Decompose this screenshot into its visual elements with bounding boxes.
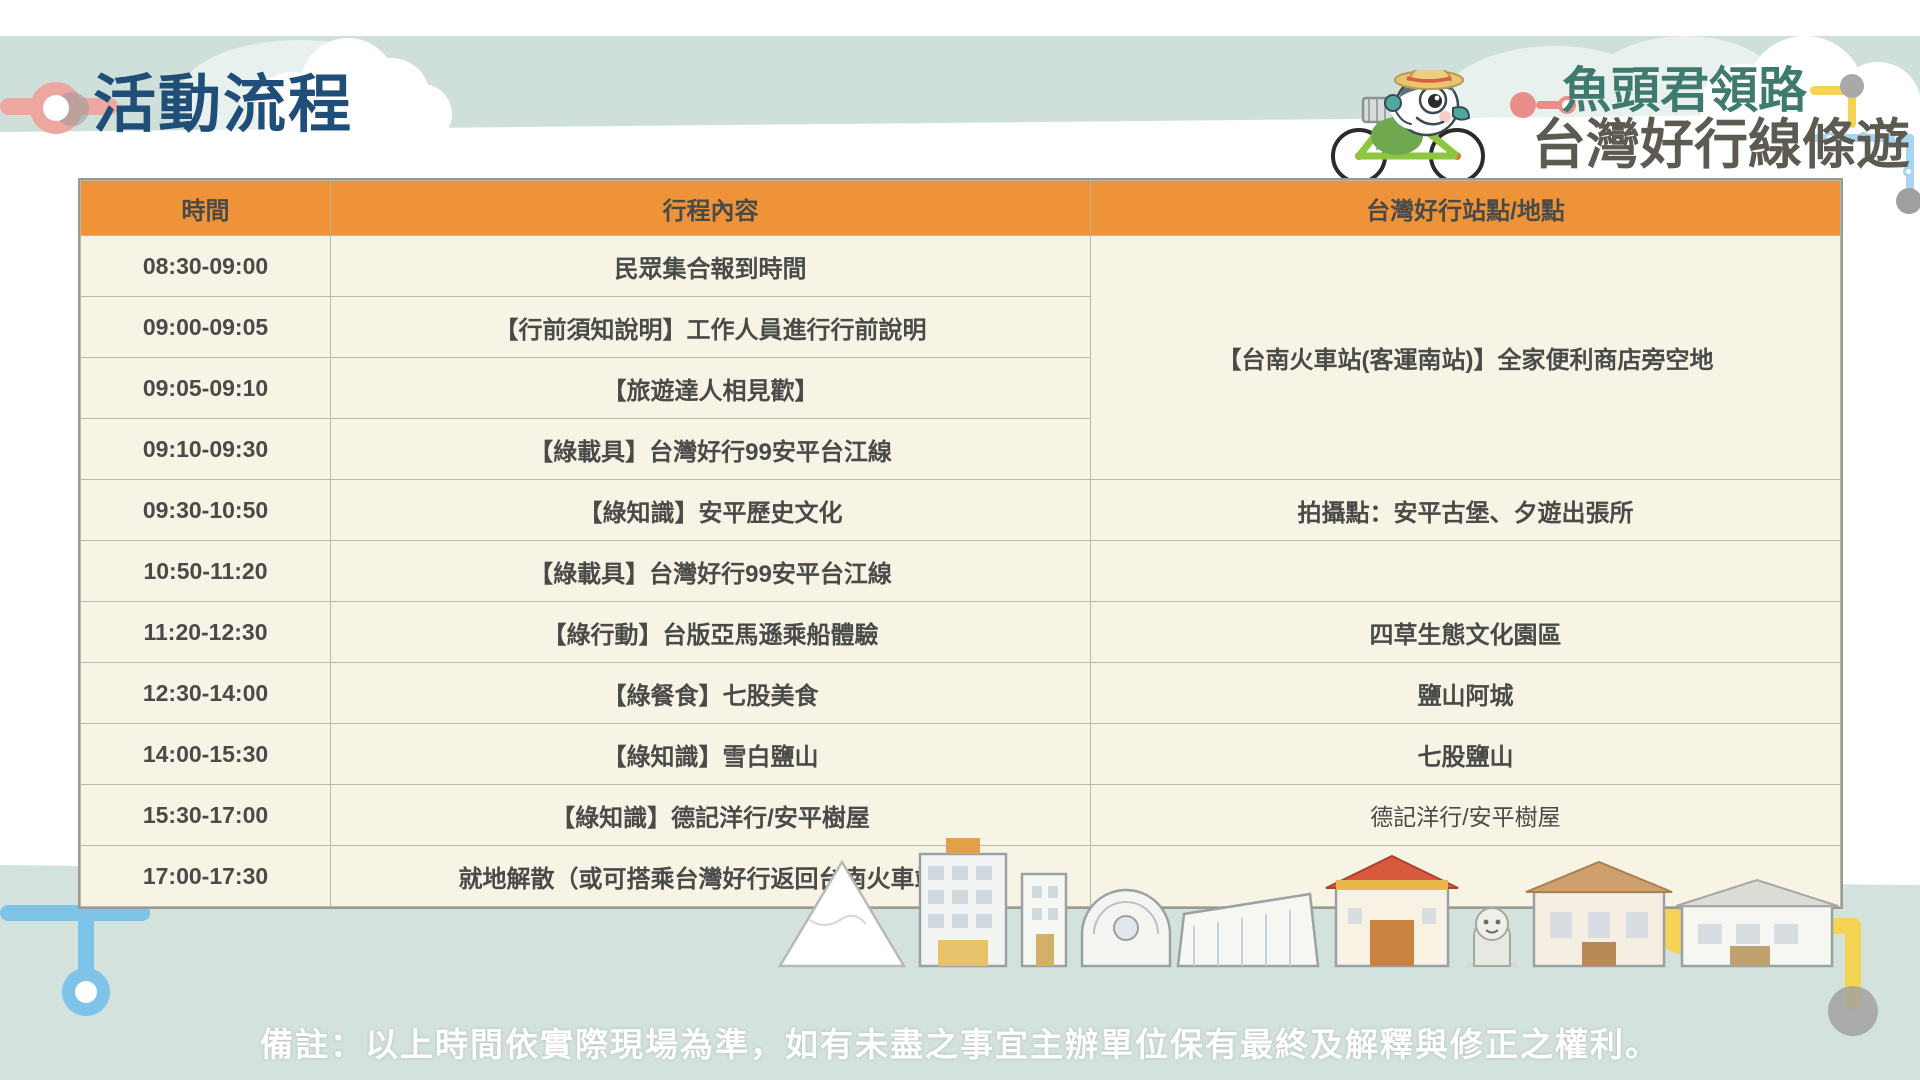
- cloud-shape: [392, 84, 452, 144]
- cell-time: 09:30-10:50: [81, 480, 331, 541]
- cell-time: 14:00-15:30: [81, 724, 331, 785]
- observatory-dome-icon: [1082, 890, 1170, 966]
- table-row: 08:30-09:00民眾集合報到時間【台南火車站(客運南站)】全家便利商店旁空…: [81, 236, 1841, 297]
- museum-building-icon: [1178, 894, 1318, 966]
- rail-line-blue-left: [0, 905, 150, 921]
- cell-content: 【綠知識】雪白鹽山: [331, 724, 1091, 785]
- heritage-house-icon: [1526, 862, 1672, 966]
- cell-time: 09:10-09:30: [81, 419, 331, 480]
- brand-logo: 魚頭君領路 台灣好行線條遊: [1510, 58, 1910, 188]
- schedule-table-body: 08:30-09:00民眾集合報到時間【台南火車站(客運南站)】全家便利商店旁空…: [81, 236, 1841, 907]
- cell-time: 09:00-09:05: [81, 297, 331, 358]
- cell-time: 10:50-11:20: [81, 541, 331, 602]
- top-white-strip: [0, 0, 1920, 36]
- cell-time: 11:20-12:30: [81, 602, 331, 663]
- table-row: 12:30-14:00【綠餐食】七股美食鹽山阿城: [81, 663, 1841, 724]
- cell-time: 09:05-09:10: [81, 358, 331, 419]
- cell-content: 【綠載具】台灣好行99安平台江線: [331, 419, 1091, 480]
- footer-note: 備註：以上時間依實際現場為準，如有未盡之事宜主辦單位保有最終及解釋與修正之權利。: [0, 1018, 1920, 1066]
- logo-tagline-line1: 魚頭君領路: [1562, 66, 1807, 115]
- cell-place: 七股鹽山: [1091, 724, 1841, 785]
- table-row: 09:30-10:50【綠知識】安平歷史文化拍攝點：安平古堡、夕遊出張所: [81, 480, 1841, 541]
- fish-mascot-on-bicycle-icon: [1325, 70, 1515, 185]
- table-header-row: 時間 行程內容 台灣好行站點/地點: [81, 181, 1841, 236]
- rail-knob-pink-inner: [43, 95, 69, 121]
- tall-building-icon: [920, 838, 1006, 966]
- cell-time: 08:30-09:00: [81, 236, 331, 297]
- column-header-place: 台灣好行站點/地點: [1091, 181, 1841, 236]
- cell-time: 15:30-17:00: [81, 785, 331, 846]
- cell-time: 12:30-14:00: [81, 663, 331, 724]
- table-row: 11:20-12:30【綠行動】台版亞馬遜乘船體驗四草生態文化園區: [81, 602, 1841, 663]
- cell-content: 【旅遊達人相見歡】: [331, 358, 1091, 419]
- schedule-table: 時間 行程內容 台灣好行站點/地點 08:30-09:00民眾集合報到時間【台南…: [80, 180, 1841, 907]
- page-title: 活動流程: [93, 74, 353, 137]
- cell-place: 四草生態文化園區: [1091, 602, 1841, 663]
- cell-content: 【綠行動】台版亞馬遜乘船體驗: [331, 602, 1091, 663]
- stone-statue-icon: [1466, 908, 1518, 968]
- cell-time: 17:00-17:30: [81, 846, 331, 907]
- rail-knob-blue-inner: [75, 981, 97, 1003]
- logo-knob-grey-bottom-icon: [1896, 188, 1920, 214]
- cell-content: 【綠餐食】七股美食: [331, 663, 1091, 724]
- table-row: 10:50-11:20【綠載具】台灣好行99安平台江線: [81, 541, 1841, 602]
- logo-tagline-line2: 台灣好行線條遊: [1532, 118, 1910, 172]
- cell-place: 【台南火車站(客運南站)】全家便利商店旁空地: [1091, 236, 1841, 480]
- table-row: 14:00-15:30【綠知識】雪白鹽山七股鹽山: [81, 724, 1841, 785]
- cell-content: 【綠載具】台灣好行99安平台江線: [331, 541, 1091, 602]
- gallery-building-icon: [1676, 880, 1838, 966]
- column-header-content: 行程內容: [331, 181, 1091, 236]
- cell-content: 【綠知識】安平歷史文化: [331, 480, 1091, 541]
- salt-mountain-icon: [780, 862, 904, 966]
- watchtower-icon: [1022, 874, 1066, 966]
- cell-content: 【行前須知說明】工作人員進行行前說明: [331, 297, 1091, 358]
- logo-knob-grey-icon: [1840, 74, 1864, 98]
- cell-place: 鹽山阿城: [1091, 663, 1841, 724]
- city-landmarks-illustration: [770, 828, 1860, 968]
- temple-gate-icon: [1326, 856, 1458, 966]
- column-header-time: 時間: [81, 181, 331, 236]
- cell-place: [1091, 541, 1841, 602]
- cell-content: 民眾集合報到時間: [331, 236, 1091, 297]
- cell-place: 拍攝點：安平古堡、夕遊出張所: [1091, 480, 1841, 541]
